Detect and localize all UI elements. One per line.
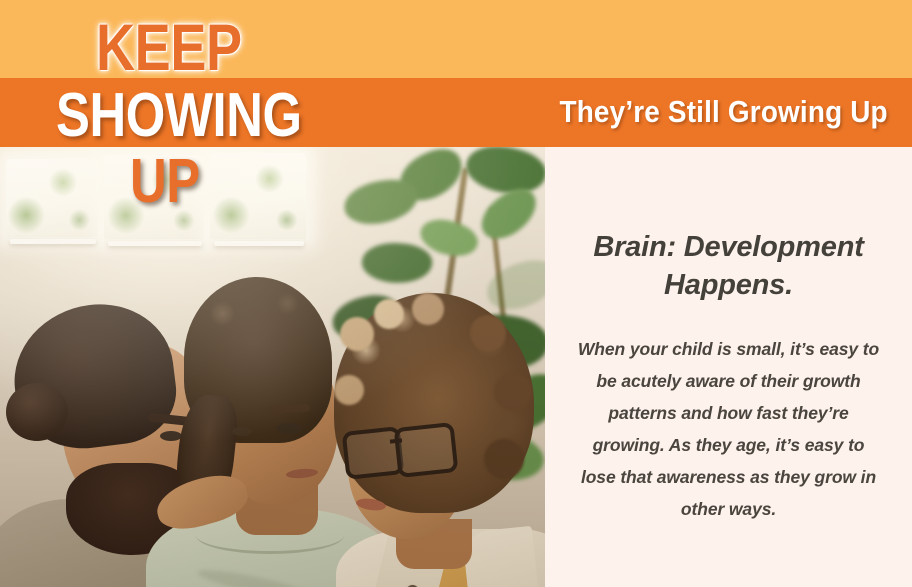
panel-body-text: When your child is small, it’s easy to b… — [571, 304, 886, 525]
family-photo — [0, 147, 545, 587]
eyeglasses-right-lens — [394, 422, 459, 478]
masthead-word-keep: KEEP — [96, 14, 242, 80]
plant-leaf-6 — [360, 239, 434, 286]
mother-curl-4 — [470, 315, 506, 351]
mother-curl-5 — [494, 373, 532, 411]
mother-curl-7 — [334, 375, 364, 405]
masthead-word-showing: SHOWING — [56, 85, 302, 147]
poster-root: KEEP SHOWING UP They’re Still Growing Up… — [0, 0, 912, 587]
plant-leaf-7 — [481, 254, 545, 316]
panel-heading: Brain: Development Happens. — [571, 147, 886, 304]
window-sill-right — [214, 241, 304, 246]
mother-curl-1 — [340, 317, 374, 351]
masthead-kicker: They’re Still Growing Up — [560, 94, 888, 130]
teen-eye-left — [232, 427, 252, 436]
window-pane-left — [6, 159, 98, 237]
mother-curl-2 — [374, 299, 404, 329]
plant-leaf-4 — [473, 181, 545, 247]
mother-curl-6 — [484, 439, 524, 479]
plant-leaf-3 — [341, 176, 420, 228]
mother-curl-3 — [412, 293, 444, 325]
masthead-word-up: UP — [130, 151, 200, 213]
text-panel: Brain: Development Happens. When your ch… — [545, 147, 912, 587]
mother-cardigan-lapel-right — [462, 526, 545, 587]
photo-background-wall — [0, 147, 545, 587]
window-sill-left — [10, 239, 96, 244]
father-eye — [160, 431, 182, 441]
window-pane-right — [210, 153, 306, 239]
window-sill-center — [108, 241, 202, 246]
father-hair-bun — [6, 383, 68, 441]
teen-eye-right — [276, 423, 302, 434]
